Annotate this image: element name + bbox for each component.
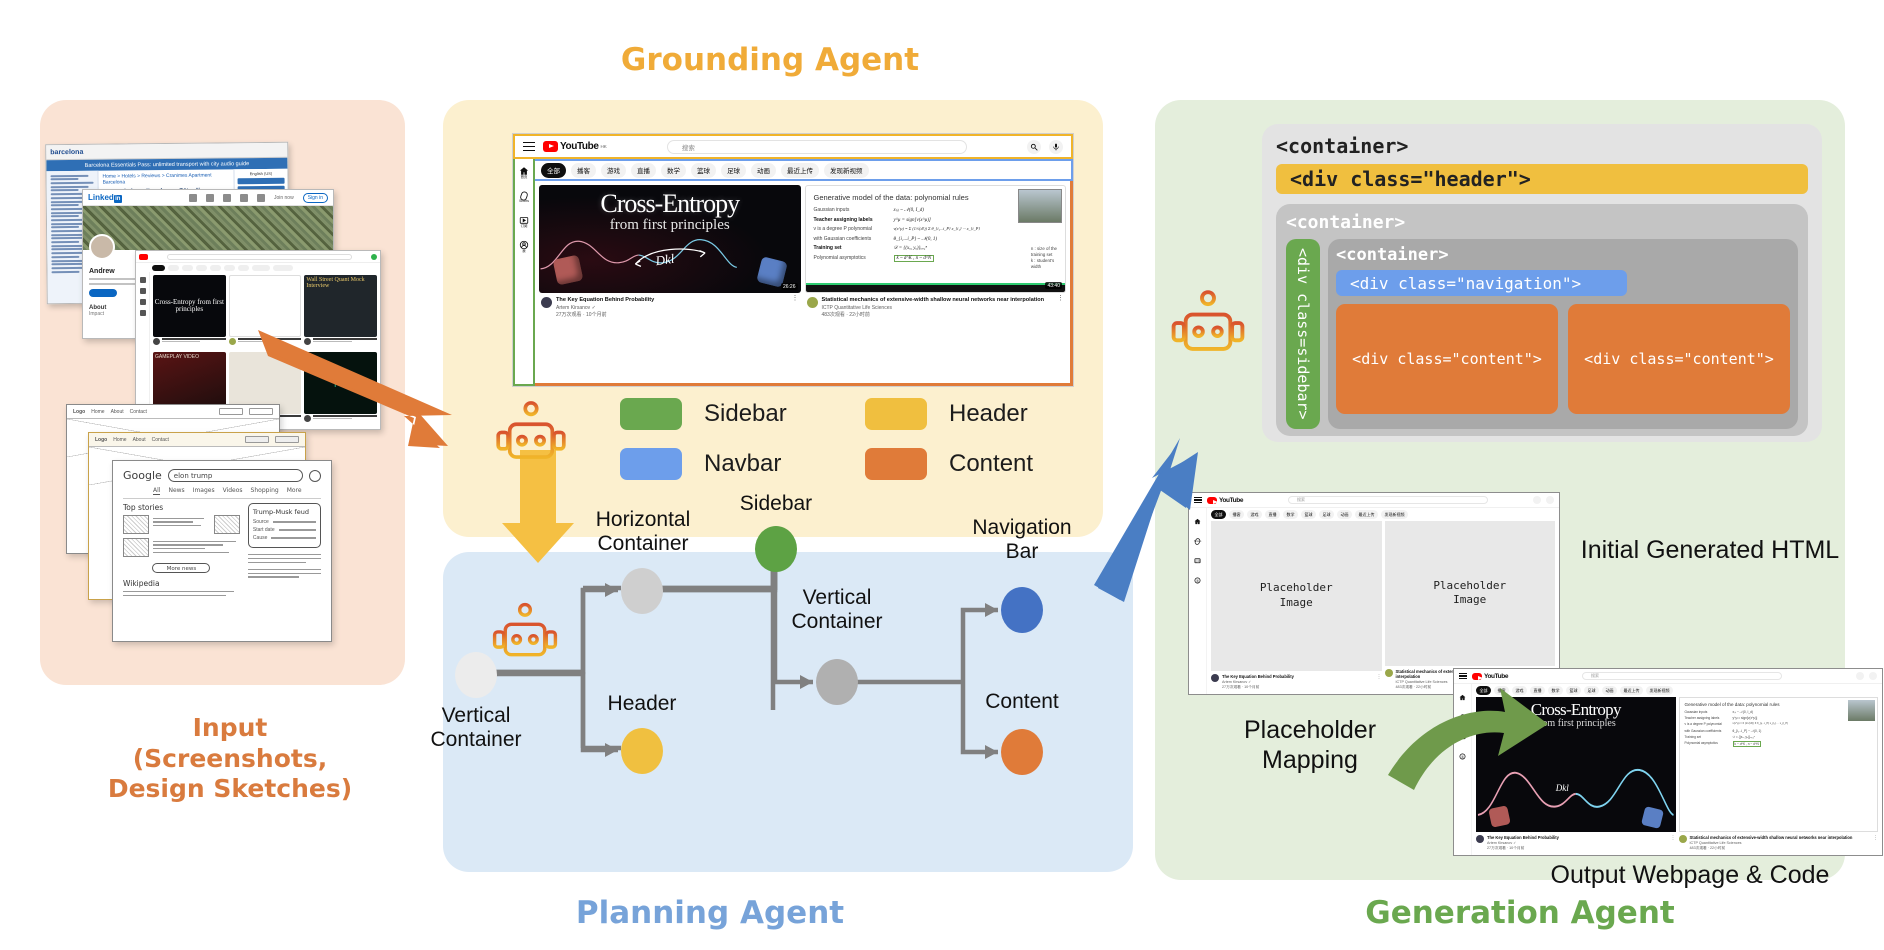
video-card[interactable]: Cross-Entropy from first principles Dkl: [539, 185, 801, 379]
legend-label-sidebar: Sidebar: [704, 400, 787, 428]
story-thumb: [214, 515, 240, 534]
legend-label-content: Content: [949, 450, 1033, 478]
knowledge-card: Trump-Musk feud Source Start date Cause: [248, 503, 321, 548]
robot-icon-grounding: [490, 398, 572, 480]
dkl-annotation: Dkl: [1556, 783, 1569, 793]
list-item[interactable]: |Q⟩: [304, 352, 377, 426]
thumb-title-line1: Cross-Entropy: [600, 191, 739, 217]
video-title: The Key Equation Behind Probability: [1222, 674, 1374, 679]
subscriptions-icon: [1459, 727, 1466, 734]
nav-icon[interactable]: [240, 194, 248, 202]
chip-basketball[interactable]: 篮球: [1301, 510, 1316, 519]
ph-body: 首页 Shorts 订阅 我 全部 播客 游戏 直播 数学 篮球 足球 动画 最…: [1189, 508, 1559, 694]
legend-swatch-header: [865, 398, 927, 430]
sidebar-item-subscriptions[interactable]: 订阅: [1454, 727, 1471, 739]
review-logo: barcelona: [46, 148, 83, 155]
sidebar-item-shorts[interactable]: Shorts: [515, 188, 533, 203]
chip-animation[interactable]: 动画: [1602, 686, 1617, 695]
wireframe-nav-item: About: [111, 409, 124, 415]
play-icon: [1472, 673, 1482, 680]
profile-icon: [519, 237, 529, 247]
slide-row-eq: y^μ = sign[ν(x^μ)]: [1733, 716, 1758, 720]
video-title: The Key Equation Behind Probability: [1487, 835, 1668, 840]
code-inner-container-box: <container> <div class="navigation"> <di…: [1328, 239, 1798, 429]
slide-row-eq: ν(x^μ) = Σ (1/√(d!)) Σ θ_{i₁...i_P} x_{i…: [1733, 722, 1788, 726]
avatar: [807, 297, 818, 308]
video-title: The Key Equation Behind Probability: [556, 297, 788, 304]
code-content-div-2: <div class="content">: [1568, 304, 1790, 414]
avatar: [1476, 835, 1484, 843]
slide-row-eq: k ~ d^K , n ~ d^N: [894, 255, 935, 262]
linkedin-logo: Linkedin: [88, 193, 122, 203]
thumbnail: Cross-Entropy from first principles Dkl: [1476, 697, 1676, 832]
code-mid-container: <container>: [1286, 212, 1798, 233]
placeholder-browser-mock: YouTube 搜索 首页 Shorts 订阅 我 全部 播客 游戏 直播 数学: [1188, 492, 1560, 695]
google-side-column: Trump-Musk feud Source Start date Cause: [248, 503, 321, 599]
knowledge-card-title: Trump-Musk feud: [253, 508, 316, 516]
nav-icon[interactable]: [189, 194, 197, 202]
label-horizontal-container: Horizontal Container: [563, 508, 723, 555]
linkedin-cover-photo: [83, 206, 333, 250]
out-navbar: 全部 播客 游戏 直播 数学 篮球 足球 动画 最近上传 发现新视频: [1472, 684, 1882, 697]
slide-row-eq: θ_{i₁...i_P} ~ 𝒩(0, 1): [1733, 729, 1762, 733]
nav-icon[interactable]: [206, 194, 214, 202]
content-region-highlight: Cross-Entropy from first principles Dkl: [535, 181, 1073, 386]
out-main: 全部 播客 游戏 直播 数学 篮球 足球 动画 最近上传 发现新视频 Cross…: [1472, 684, 1882, 855]
chip-all[interactable]: 全部: [1476, 686, 1491, 695]
video-card[interactable]: Generative model of the data: polynomial…: [1679, 697, 1879, 851]
tab-more[interactable]: More: [287, 487, 302, 495]
sidebar-region-highlight: 首页 Shorts 订阅: [513, 159, 535, 386]
google-sketch-body: Google elon trump All News Images Videos…: [113, 461, 331, 607]
legend-swatch-navbar: [620, 448, 682, 480]
more-options-icon[interactable]: ⋮: [1377, 674, 1382, 690]
search-input[interactable]: 搜索: [667, 140, 967, 154]
legend-item-content: Content: [865, 448, 1080, 480]
thumbnail: Cross-Entropy from first principles: [153, 275, 226, 337]
legend-label-navbar: Navbar: [704, 450, 781, 478]
chip-math[interactable]: 数学: [1283, 510, 1298, 519]
youtube-logo[interactable]: YouTube HK: [543, 141, 607, 152]
wireframe-navbar: Logo Home About Contact: [89, 433, 305, 447]
card-row-label: Source: [253, 519, 269, 525]
chip-discover-new[interactable]: 发现新视频: [1646, 686, 1673, 695]
label-navigation-bar: Navigation Bar: [947, 516, 1097, 563]
code-inner-container: <container>: [1336, 245, 1790, 265]
connect-button[interactable]: [89, 289, 117, 297]
chip-football[interactable]: 足球: [721, 163, 746, 178]
channel-name: Artem Kirsanov ✓: [1222, 680, 1374, 684]
chip-all[interactable]: 全部: [541, 163, 566, 178]
chip-recent-uploads[interactable]: 最近上传: [781, 163, 819, 178]
youtube-logo[interactable]: YouTube: [1207, 497, 1243, 504]
search-input[interactable]: 搜索: [1288, 496, 1488, 504]
chip-all[interactable]: 全部: [1211, 510, 1226, 519]
content-row: <div class="content"> <div class="conten…: [1336, 304, 1790, 414]
youtube-logo[interactable]: YouTube: [1472, 673, 1508, 680]
ph-navbar: 全部 播客 游戏 直播 数学 篮球 足球 动画 最近上传 发现新视频: [1207, 508, 1559, 521]
thumbnail: [229, 275, 302, 337]
browser-main: 全部 播客 游戏 直播 数学 篮球 足球 动画 最近上传 发现新视频 Cross…: [535, 159, 1073, 386]
navbar-region-highlight: 全部 播客 游戏 直播 数学 篮球 足球 动画 最近上传 发现新视频: [535, 159, 1073, 181]
chip-gaming[interactable]: 游戏: [1512, 686, 1527, 695]
generated-html-tree: <container> <div class="header"> <contai…: [1262, 124, 1822, 442]
microphone-icon[interactable]: [1546, 496, 1554, 504]
label-vertical-container: Vertical Container: [761, 586, 913, 633]
channel-name: ICTP Quantitative Life Sciences: [1690, 841, 1871, 845]
panel-title-planning: Planning Agent: [560, 895, 860, 933]
microphone-icon[interactable]: [1049, 140, 1063, 154]
avatar: [1679, 835, 1687, 843]
thumb-title-line2: from first principles: [1536, 718, 1616, 729]
sidebar-item-profile[interactable]: 我: [515, 237, 533, 253]
slide-heading: Generative model of the data: polynomial…: [1685, 702, 1873, 707]
tab-videos[interactable]: Videos: [223, 487, 243, 495]
video-info: The Key Equation Behind Probability Arte…: [539, 293, 801, 318]
slide-row-label: ν is a degree P polynomial: [1685, 722, 1729, 726]
slide-row-eq: x₍ᵢ₎ ~ 𝒩(0, I_d): [894, 207, 924, 213]
chip-basketball[interactable]: 篮球: [1566, 686, 1581, 695]
slide-row-label: Training set: [814, 245, 842, 251]
wireframe-navbar: Logo Home About Contact: [67, 405, 279, 419]
story-thumb: [123, 538, 149, 557]
slide-row-label: with Gaussian coefficients: [814, 236, 888, 242]
out-body: 首页 Shorts 订阅 我 全部 播客 游戏 直播 数学 篮球 足球 动画 最…: [1454, 684, 1882, 855]
speaker-camera-feed: [1848, 700, 1875, 721]
list-item[interactable]: Cross-Entropy from first principles: [153, 275, 226, 349]
channel-name: Artem Kirsanov ✓: [1487, 841, 1668, 845]
microphone-icon[interactable]: [1869, 672, 1877, 680]
tab-news[interactable]: News: [168, 487, 184, 495]
slide-row-eq: y^μ = sign[ν(x^μ)]: [894, 218, 931, 223]
panel-title-grounding: Grounding Agent: [560, 42, 980, 80]
slide-row-label: Polynomial asymptotics: [814, 255, 888, 261]
out-topbar: YouTube 搜索: [1454, 669, 1882, 684]
linkedin-topbar: Linkedin Join now Sign in: [83, 190, 333, 206]
thumbnail: Generative model of the data: polynomial…: [805, 185, 1067, 293]
video-card[interactable]: Cross-Entropy from first principles Dkl: [1476, 697, 1676, 851]
wireframe-logo: Logo: [73, 409, 85, 415]
legend-item-header: Header: [865, 398, 1080, 430]
grounding-legend: Sidebar Header Navbar Content: [620, 398, 1080, 480]
ph-topbar: YouTube 搜索: [1189, 493, 1559, 508]
panel-title-input: Input (Screenshots, Design Sketches): [60, 713, 400, 805]
legend-item-navbar: Navbar: [620, 448, 835, 480]
chip-live[interactable]: 直播: [631, 163, 656, 178]
story-cards: [123, 515, 240, 534]
robot-icon-generation: [1165, 287, 1251, 373]
more-options-icon[interactable]: ⋮: [1671, 835, 1676, 851]
subscriptions-icon: [1194, 551, 1201, 558]
mid-row: <div class=sidebar> <container> <div cla…: [1286, 239, 1798, 429]
sidebar-item-shorts[interactable]: Shorts: [1454, 708, 1471, 719]
sidebar-item-profile[interactable]: 我: [1189, 571, 1206, 583]
slide-row-eq: 𝒟 = {(xᵤ, yᵤ)}ᵤ₌₁ⁿ: [894, 245, 928, 251]
wireframe-nav-item: Home: [91, 409, 104, 415]
sidebar-item-home[interactable]: 首页: [515, 163, 533, 179]
top-stories-heading: Top stories: [123, 503, 240, 512]
account-avatar[interactable]: [309, 470, 321, 482]
nav-icon[interactable]: [257, 194, 265, 202]
chip-live[interactable]: 直播: [1530, 686, 1545, 695]
video-stats: 27万次观看 · 10个月前: [1487, 846, 1668, 851]
avatar: [89, 234, 115, 260]
nav-icon[interactable]: [223, 194, 231, 202]
thumbnail: Wall Street Quant Mock Interview: [304, 275, 377, 337]
card-row-label: Cause: [253, 535, 267, 541]
placeholder-card[interactable]: Placeholder Image The Key Equation Behin…: [1211, 521, 1382, 690]
wikipedia-heading: Wikipedia: [123, 579, 240, 588]
legend-swatch-sidebar: [620, 398, 682, 430]
video-stats: 483次观看 · 22小时前: [822, 311, 1054, 318]
profile-icon: [1459, 747, 1466, 754]
grounding-youtube-browser: YouTube HK 搜索 首页: [512, 133, 1074, 387]
tab-all[interactable]: All: [153, 487, 160, 495]
slide-row-label: Training set: [1685, 735, 1729, 739]
red-die: [553, 255, 584, 286]
chip-animation[interactable]: 动画: [1337, 510, 1352, 519]
search-input[interactable]: elon trump: [168, 469, 303, 482]
node-navigation-bar[interactable]: [1001, 587, 1043, 633]
thumbnail: Generative model of the data: polynomial…: [1679, 697, 1879, 832]
legend-item-sidebar: Sidebar: [620, 398, 835, 430]
input-screenshot-youtube-grid: Cross-Entropy from first principles Wall…: [135, 250, 381, 430]
more-options-icon[interactable]: ⋮: [1057, 297, 1064, 318]
subscriptions-icon: [519, 212, 529, 222]
video-stats: 27万次观看 · 10个月前: [1222, 685, 1374, 690]
header-region-highlight: YouTube HK 搜索: [513, 134, 1073, 159]
placeholder-card[interactable]: Placeholder Image Statistical mechanics …: [1385, 521, 1556, 690]
slide-row-label: Gaussian inputs: [814, 207, 888, 213]
red-die: [1488, 805, 1511, 828]
avatar[interactable]: [371, 254, 377, 260]
review-lang: English (US): [236, 171, 285, 177]
slide-row-eq: k ~ d^K , n ~ d^N: [1733, 741, 1761, 747]
more-options-icon[interactable]: ⋮: [1873, 835, 1878, 851]
robot-icon-planning: [487, 600, 563, 676]
avatar: [1211, 674, 1219, 682]
slide-row-eq: θ_{i₁...i_P} ~ 𝒩(0, 1): [894, 236, 938, 242]
ph-sidebar: 首页 Shorts 订阅 我: [1189, 508, 1207, 694]
hamburger-menu-icon[interactable]: [1459, 673, 1467, 679]
list-item[interactable]: Wall Street Quant Mock Interview: [304, 275, 377, 349]
label-vertical-container-root: Vertical Container: [401, 704, 551, 751]
chip-football[interactable]: 足球: [1584, 686, 1599, 695]
browser-lower: 首页 Shorts 订阅: [513, 159, 1073, 386]
caption-output-webpage-code: Output Webpage & Code: [1520, 860, 1860, 890]
chip-recent-uploads[interactable]: 最近上传: [1620, 686, 1643, 695]
caption-initial-generated-html: Initial Generated HTML: [1560, 535, 1860, 565]
chip-podcast[interactable]: 播客: [571, 163, 596, 178]
tab-images[interactable]: Images: [193, 487, 215, 495]
wireframe-signup-button[interactable]: [275, 436, 299, 443]
diagram-stage: barcelona Barcelona Essentials Pass: unl…: [0, 0, 1884, 950]
chip-basketball[interactable]: 篮球: [691, 163, 716, 178]
wireframe-login-button[interactable]: [219, 408, 243, 415]
thumbnail: Cross-Entropy from first principles Dkl: [539, 185, 801, 293]
google-columns: Top stories More news Wikipedia: [123, 503, 321, 599]
chip-recent-uploads[interactable]: 最近上传: [1355, 510, 1378, 519]
card-row-label: Start date: [253, 527, 275, 533]
ph-main: 全部 播客 游戏 直播 数学 篮球 足球 动画 最近上传 发现新视频 Place…: [1207, 508, 1559, 694]
wireframe-nav-item: Contact: [130, 409, 147, 415]
list-item[interactable]: [229, 275, 302, 349]
code-mid-container-box: <container> <div class=sidebar> <contain…: [1276, 204, 1808, 436]
video-title: Statistical mechanics of extensive-width…: [822, 297, 1054, 304]
chip-gaming[interactable]: 游戏: [601, 163, 626, 178]
video-duration: 43:40: [1045, 282, 1062, 289]
play-icon: [1207, 497, 1217, 504]
chip-discover-new[interactable]: 发现新视频: [824, 163, 869, 178]
video-card[interactable]: Generative model of the data: polynomial…: [805, 185, 1067, 379]
slide-row-label: Polynomial asymptotics: [1685, 741, 1729, 747]
home-icon: [519, 163, 529, 173]
code-content-div-1: <div class="content">: [1336, 304, 1558, 414]
video-stats: 27万次观看 · 10个月前: [556, 311, 788, 318]
linkedin-nav: Join now Sign in: [189, 193, 328, 203]
avatar: [541, 297, 552, 308]
input-sketch-google: Google elon trump All News Images Videos…: [112, 460, 332, 642]
sidebar-item-home[interactable]: 首页: [1189, 512, 1206, 524]
chip-math[interactable]: 数学: [1548, 686, 1563, 695]
code-sidebar-div: <div class=sidebar>: [1286, 239, 1320, 429]
profile-icon: [1194, 571, 1201, 578]
label-sidebar: Sidebar: [715, 492, 837, 516]
thumbnail: |Q⟩: [304, 352, 377, 414]
node-vertical-container[interactable]: [816, 659, 858, 705]
chip-live[interactable]: 直播: [1265, 510, 1280, 519]
slide-row-eq: x₍ᵢ₎ ~ 𝒩(0, I_d): [1733, 710, 1753, 714]
sign-in-button[interactable]: Sign in: [303, 193, 328, 203]
story-thumb: [123, 515, 149, 534]
avatar: [1385, 669, 1393, 677]
google-logo: Google: [123, 469, 162, 482]
search-input[interactable]: [167, 254, 352, 260]
output-browser-mock: YouTube 搜索 首页 Shorts 订阅 我 全部 播客 游戏 直播 数学: [1453, 668, 1883, 856]
hamburger-menu-icon[interactable]: [523, 142, 535, 151]
thumb-title-line1: Cross-Entropy: [1531, 701, 1621, 718]
chip-animation[interactable]: 动画: [751, 163, 776, 178]
legend-label-header: Header: [949, 400, 1028, 428]
code-outer-container: <container>: [1276, 134, 1808, 158]
slide-row-eq: 𝒟 = {(xᵤ, yᵤ)}ᵤ₌₁ⁿ: [1733, 735, 1755, 739]
slide-row-label: Teacher assigning labels: [814, 217, 873, 223]
code-header-div: <div class="header">: [1276, 164, 1808, 194]
video-duration: 26:26: [781, 283, 798, 290]
home-icon: [1459, 688, 1466, 695]
more-news-button[interactable]: More news: [152, 563, 210, 573]
shorts-icon: [1459, 708, 1466, 715]
google-tabs: All News Images Videos Shopping More: [153, 487, 321, 495]
chip-math[interactable]: 数学: [661, 163, 686, 178]
sidebar-item-subscriptions[interactable]: 订阅: [1189, 551, 1206, 563]
slide-row-label: ν is a degree P polynomial: [814, 226, 888, 232]
chip-football[interactable]: 足球: [1319, 510, 1334, 519]
chip-gaming[interactable]: 游戏: [1247, 510, 1262, 519]
google-search-row: Google elon trump: [123, 469, 321, 482]
search-input[interactable]: 搜索: [1582, 672, 1782, 680]
search-icon[interactable]: [1027, 140, 1041, 154]
youtube-logo-icon: [139, 254, 148, 260]
google-main-column: Top stories More news Wikipedia: [123, 503, 240, 599]
sidebar-item-home[interactable]: 首页: [1454, 688, 1471, 700]
placeholder-image: Placeholder Image: [1211, 521, 1382, 671]
shorts-icon: [519, 188, 529, 198]
video-info: Statistical mechanics of extensive-width…: [805, 293, 1067, 318]
sidebar-item-profile[interactable]: 我: [1454, 747, 1471, 759]
play-icon: [543, 141, 558, 152]
node-content[interactable]: [1001, 729, 1043, 775]
review-breadcrumb: Home > Hotels > Reviews > Cranimes Apart…: [102, 172, 229, 185]
yt-grid-topbar: [136, 251, 380, 263]
slide-row-eq: ν(x^μ) = Σ (1/√(d!)) Σ θ_{i₁...i_P} x_{i…: [894, 226, 980, 231]
wireframe-signup-button[interactable]: [249, 408, 273, 415]
more-options-icon[interactable]: ⋮: [792, 297, 799, 318]
sidebar-item-subscriptions[interactable]: 订阅: [515, 212, 533, 228]
panel-title-generation: Generation Agent: [1330, 895, 1710, 933]
placeholder-image: Placeholder Image: [1385, 521, 1556, 666]
out-content: Cross-Entropy from first principles Dkl: [1472, 697, 1882, 855]
node-sidebar[interactable]: [755, 526, 797, 572]
video-title: Statistical mechanics of extensive-width…: [1690, 835, 1871, 840]
node-horizontal-container[interactable]: [621, 568, 663, 614]
label-header: Header: [582, 692, 702, 716]
chip-podcast[interactable]: 播客: [1229, 510, 1244, 519]
code-navigation-div: <div class="navigation">: [1336, 270, 1627, 296]
slide-row-label: Gaussian inputs: [1685, 710, 1729, 714]
speaker-camera-feed: [1018, 189, 1062, 223]
node-header[interactable]: [621, 728, 663, 774]
label-content: Content: [957, 690, 1087, 714]
sidebar-item-shorts[interactable]: Shorts: [1189, 532, 1206, 543]
home-icon: [1194, 512, 1201, 519]
chip-podcast[interactable]: 播客: [1494, 686, 1509, 695]
search-icon[interactable]: [1533, 496, 1541, 504]
join-now-link[interactable]: Join now: [274, 195, 294, 201]
legend-swatch-content: [865, 448, 927, 480]
shorts-icon: [1194, 532, 1201, 539]
out-sidebar: 首页 Shorts 订阅 我: [1454, 684, 1472, 855]
curved-arrow-icon: [597, 245, 743, 269]
slide-row-label: Teacher assigning labels: [1685, 716, 1729, 720]
video-stats: 483次观看 · 22小时前: [1690, 846, 1871, 851]
wireframe-login-button[interactable]: [245, 436, 269, 443]
search-icon[interactable]: [1856, 672, 1864, 680]
caption-placeholder-mapping: Placeholder Mapping: [1195, 715, 1425, 775]
hamburger-menu-icon[interactable]: [1194, 497, 1202, 503]
tab-shopping[interactable]: Shopping: [251, 487, 279, 495]
chip-discover-new[interactable]: 发现新视频: [1381, 510, 1408, 519]
slide-notes: n : size of the training set k : student…: [1031, 246, 1057, 270]
yt-grid-chips: [136, 263, 380, 272]
slide-row-label: with Gaussian coefficients: [1685, 729, 1729, 733]
